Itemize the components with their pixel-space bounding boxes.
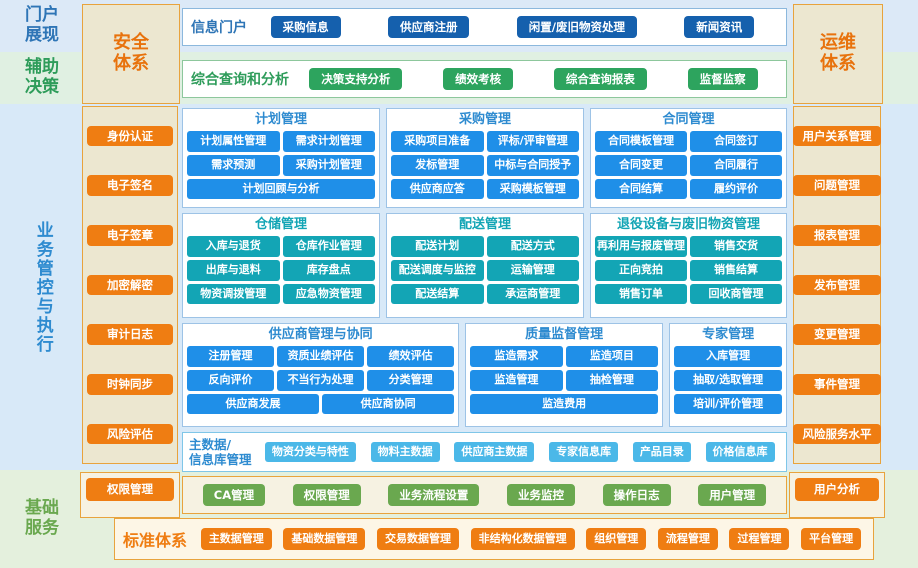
panel-仓储管理: 仓储管理入库与退货仓库作业管理出库与退料库存盘点物资调拨管理应急物资管理 — [182, 213, 380, 318]
panel-subrow-0: 监造需求监造项目 — [470, 346, 658, 367]
panel-row-0: 计划管理计划属性管理需求计划管理需求预测采购计划管理计划回顾与分析采购管理采购项… — [182, 108, 787, 208]
standards-label: 标准体系 — [123, 527, 187, 551]
ops-items-strip: 用户关系管理问题管理报表管理发布管理变更管理事件管理风险服务水平 — [793, 106, 881, 464]
panel-item-合同签订[interactable]: 合同签订 — [690, 131, 782, 152]
panel-subrow-0: 计划属性管理需求计划管理 — [187, 131, 375, 152]
panel-item-监造费用[interactable]: 监造费用 — [470, 394, 658, 415]
base-user-analysis-button[interactable]: 用户分析 — [795, 478, 879, 501]
portal-row-title: 信息门户 — [191, 17, 247, 37]
portal-button-0[interactable]: 采购信息 — [271, 16, 341, 39]
panel-item-计划属性管理[interactable]: 计划属性管理 — [187, 131, 280, 152]
panel-title-合同管理: 合同管理 — [595, 112, 782, 128]
ops-item-1[interactable]: 问题管理 — [793, 175, 881, 196]
layer-label-portal-line1: 门户 — [25, 6, 59, 26]
panel-item-应急物资管理[interactable]: 应急物资管理 — [283, 284, 376, 305]
panel-item-配送结算[interactable]: 配送结算 — [391, 284, 484, 305]
panel-body-配送管理: 配送计划配送方式配送调度与监控运输管理配送结算承运商管理 — [391, 236, 579, 313]
panel-item-中标与合同授予[interactable]: 中标与合同授予 — [487, 155, 580, 176]
panel-计划管理: 计划管理计划属性管理需求计划管理需求预测采购计划管理计划回顾与分析 — [182, 108, 380, 208]
decision-button-0[interactable]: 决策支持分析 — [309, 68, 402, 91]
panel-row-2: 供应商管理与协同注册管理资质业绩评估绩效评估反向评价不当行为处理分类管理供应商发… — [182, 323, 787, 427]
panel-item-入库与退货[interactable]: 入库与退货 — [187, 236, 280, 257]
panel-subrow-1: 抽取/选取管理 — [674, 370, 782, 391]
panel-title-计划管理: 计划管理 — [187, 112, 375, 128]
panel-item-监造管理[interactable]: 监造管理 — [470, 370, 563, 391]
security-label-line1: 安全 — [113, 33, 149, 54]
master-data-buttons: 物资分类与特性物料主数据供应商主数据专家信息库产品目录价格信息库 — [260, 442, 780, 462]
panel-item-回收商管理[interactable]: 回收商管理 — [690, 284, 782, 305]
layer-label-base-line2: 服务 — [25, 519, 59, 539]
security-item-1[interactable]: 电子签名 — [87, 175, 173, 196]
panel-item-不当行为处理[interactable]: 不当行为处理 — [277, 370, 364, 391]
standard-button-0[interactable]: 主数据管理 — [201, 528, 272, 550]
panel-item-供应商发展[interactable]: 供应商发展 — [187, 394, 319, 415]
panel-item-绩效评估[interactable]: 绩效评估 — [367, 346, 454, 367]
panel-item-采购计划管理[interactable]: 采购计划管理 — [283, 155, 376, 176]
panel-title-退役设备与废旧物资管理: 退役设备与废旧物资管理 — [595, 217, 782, 233]
panel-item-监造需求[interactable]: 监造需求 — [470, 346, 563, 367]
panel-subrow-0: 配送计划配送方式 — [391, 236, 579, 257]
panel-质量监督管理: 质量监督管理监造需求监造项目监造管理抽检管理监造费用 — [465, 323, 663, 427]
decision-row: 综合查询和分析 决策支持分析绩效考核综合查询报表监督监察 — [182, 60, 787, 98]
standards-buttons: 主数据管理基础数据管理交易数据管理非结构化数据管理组织管理流程管理过程管理平台管… — [197, 528, 865, 550]
layer-label-portal: 门户 展现 — [6, 2, 78, 50]
layer-label-decision-line1: 辅助 — [25, 58, 59, 78]
panel-item-履约评价[interactable]: 履约评价 — [690, 179, 782, 200]
panel-subrow-2: 供应商发展供应商协同 — [187, 394, 454, 415]
panel-subrow-1: 监造管理抽检管理 — [470, 370, 658, 391]
security-item-4[interactable]: 审计日志 — [87, 324, 173, 345]
panel-title-质量监督管理: 质量监督管理 — [470, 327, 658, 343]
security-item-3[interactable]: 加密解密 — [87, 275, 173, 296]
panel-item-计划回顾与分析[interactable]: 计划回顾与分析 — [187, 179, 375, 200]
panel-subrow-2: 配送结算承运商管理 — [391, 284, 579, 305]
panel-subrow-2: 培训/评价管理 — [674, 394, 782, 415]
layer-label-decision-line2: 决策 — [25, 78, 59, 98]
panel-title-专家管理: 专家管理 — [674, 327, 782, 343]
ops-label-line2: 体系 — [820, 54, 856, 75]
panel-body-供应商管理与协同: 注册管理资质业绩评估绩效评估反向评价不当行为处理分类管理供应商发展供应商协同 — [187, 346, 454, 422]
panel-item-销售交货[interactable]: 销售交货 — [690, 236, 782, 257]
panel-subrow-0: 入库管理 — [674, 346, 782, 367]
decision-button-2[interactable]: 综合查询报表 — [554, 68, 647, 91]
panel-专家管理: 专家管理入库管理抽取/选取管理培训/评价管理 — [669, 323, 787, 427]
master-data-row: 主数据/信息库管理物资分类与特性物料主数据供应商主数据专家信息库产品目录价格信息… — [182, 432, 787, 472]
panel-subrow-0: 注册管理资质业绩评估绩效评估 — [187, 346, 454, 367]
panel-供应商管理与协同: 供应商管理与协同注册管理资质业绩评估绩效评估反向评价不当行为处理分类管理供应商发… — [182, 323, 459, 427]
base-service-button-4[interactable]: 操作日志 — [603, 484, 671, 507]
panel-item-库存盘点[interactable]: 库存盘点 — [283, 260, 376, 281]
standard-button-1[interactable]: 基础数据管理 — [283, 528, 365, 550]
portal-row: 信息门户 采购信息供应商注册闲置/废旧物资处理新闻资讯 — [182, 8, 787, 46]
ops-item-2[interactable]: 报表管理 — [793, 225, 881, 246]
layer-label-portal-line2: 展现 — [25, 26, 59, 46]
master-data-label: 主数据/信息库管理 — [189, 437, 252, 467]
panel-item-注册管理[interactable]: 注册管理 — [187, 346, 274, 367]
decision-buttons: 决策支持分析绩效考核综合查询报表监督监察 — [289, 68, 778, 91]
panel-body-专家管理: 入库管理抽取/选取管理培训/评价管理 — [674, 346, 782, 422]
base-service-button-5[interactable]: 用户管理 — [698, 484, 766, 507]
standard-button-4[interactable]: 组织管理 — [586, 528, 646, 550]
panel-subrow-0: 入库与退货仓库作业管理 — [187, 236, 375, 257]
panel-退役设备与废旧物资管理: 退役设备与废旧物资管理再利用与报废管理销售交货正向竞拍销售结算销售订单回收商管理 — [590, 213, 787, 318]
panel-item-合同结算[interactable]: 合同结算 — [595, 179, 687, 200]
decision-button-1[interactable]: 绩效考核 — [443, 68, 513, 91]
portal-button-3[interactable]: 新闻资讯 — [684, 16, 754, 39]
panel-item-合同履行[interactable]: 合同履行 — [690, 155, 782, 176]
master-data-label-line2: 信息库管理 — [189, 452, 252, 467]
panel-body-计划管理: 计划属性管理需求计划管理需求预测采购计划管理计划回顾与分析 — [187, 131, 375, 203]
panel-subrow-1: 需求预测采购计划管理 — [187, 155, 375, 176]
master-data-item-4[interactable]: 产品目录 — [633, 442, 691, 462]
standard-button-5[interactable]: 流程管理 — [658, 528, 718, 550]
panel-subrow-2: 供应商应答采购模板管理 — [391, 179, 579, 200]
standard-button-7[interactable]: 平台管理 — [801, 528, 861, 550]
standards-row: 标准体系 主数据管理基础数据管理交易数据管理非结构化数据管理组织管理流程管理过程… — [114, 518, 874, 560]
base-service-button-2[interactable]: 业务流程设置 — [388, 484, 479, 507]
architecture-diagram: 门户 展现 辅助 决策 业务管控与执行 基础 服务 安全 体系 运维 体系 身份… — [0, 0, 918, 568]
panel-subrow-2: 合同结算履约评价 — [595, 179, 782, 200]
panel-subrow-2: 销售订单回收商管理 — [595, 284, 782, 305]
ops-system-header: 运维 体系 — [793, 4, 883, 104]
panel-subrow-1: 正向竞拍销售结算 — [595, 260, 782, 281]
master-data-item-1[interactable]: 物料主数据 — [371, 442, 440, 462]
panel-item-正向竞拍[interactable]: 正向竞拍 — [595, 260, 687, 281]
ops-item-5[interactable]: 事件管理 — [793, 374, 881, 395]
panel-item-合同模板管理[interactable]: 合同模板管理 — [595, 131, 687, 152]
panel-item-合同变更[interactable]: 合同变更 — [595, 155, 687, 176]
panel-item-分类管理[interactable]: 分类管理 — [367, 370, 454, 391]
panel-subrow-1: 发标管理中标与合同授予 — [391, 155, 579, 176]
standard-button-2[interactable]: 交易数据管理 — [377, 528, 459, 550]
panel-title-供应商管理与协同: 供应商管理与协同 — [187, 327, 454, 343]
panel-item-抽检管理[interactable]: 抽检管理 — [566, 370, 659, 391]
panel-subrow-0: 采购项目准备评标/评审管理 — [391, 131, 579, 152]
panel-item-采购项目准备[interactable]: 采购项目准备 — [391, 131, 484, 152]
security-item-5[interactable]: 时钟同步 — [87, 374, 173, 395]
panel-item-入库管理[interactable]: 入库管理 — [674, 346, 782, 367]
ops-item-0[interactable]: 用户关系管理 — [793, 126, 881, 147]
panel-item-监造项目[interactable]: 监造项目 — [566, 346, 659, 367]
panel-item-培训/评价管理[interactable]: 培训/评价管理 — [674, 394, 782, 415]
panel-item-抽取/选取管理[interactable]: 抽取/选取管理 — [674, 370, 782, 391]
panel-合同管理: 合同管理合同模板管理合同签订合同变更合同履行合同结算履约评价 — [590, 108, 787, 208]
layer-label-business: 业务管控与执行 — [6, 108, 78, 466]
panel-item-出库与退料[interactable]: 出库与退料 — [187, 260, 280, 281]
business-panels-area: 计划管理计划属性管理需求计划管理需求预测采购计划管理计划回顾与分析采购管理采购项… — [182, 108, 787, 464]
panel-item-资质业绩评估[interactable]: 资质业绩评估 — [277, 346, 364, 367]
layer-label-base: 基础 服务 — [6, 474, 78, 564]
layer-label-business-text: 业务管控与执行 — [32, 221, 52, 354]
panel-item-供应商协同[interactable]: 供应商协同 — [322, 394, 454, 415]
security-system-header: 安全 体系 — [82, 4, 180, 104]
portal-buttons: 采购信息供应商注册闲置/废旧物资处理新闻资讯 — [247, 16, 778, 39]
panel-配送管理: 配送管理配送计划配送方式配送调度与监控运输管理配送结算承运商管理 — [386, 213, 584, 318]
panel-item-承运商管理[interactable]: 承运商管理 — [487, 284, 580, 305]
master-data-item-3[interactable]: 专家信息库 — [549, 442, 618, 462]
ops-item-3[interactable]: 发布管理 — [793, 275, 881, 296]
panel-item-运输管理[interactable]: 运输管理 — [487, 260, 580, 281]
panel-item-采购模板管理[interactable]: 采购模板管理 — [487, 179, 580, 200]
panel-subrow-0: 再利用与报废管理销售交货 — [595, 236, 782, 257]
panel-item-销售结算[interactable]: 销售结算 — [690, 260, 782, 281]
panel-item-供应商应答[interactable]: 供应商应答 — [391, 179, 484, 200]
panel-body-合同管理: 合同模板管理合同签订合同变更合同履行合同结算履约评价 — [595, 131, 782, 203]
base-service-button-0[interactable]: CA管理 — [203, 484, 265, 507]
base-services-row: CA管理权限管理业务流程设置业务监控操作日志用户管理 — [182, 476, 787, 514]
ops-label-line1: 运维 — [820, 33, 856, 54]
panel-subrow-1: 配送调度与监控运输管理 — [391, 260, 579, 281]
master-data-item-5[interactable]: 价格信息库 — [706, 442, 775, 462]
security-item-2[interactable]: 电子签章 — [87, 225, 173, 246]
master-data-label-line1: 主数据/ — [189, 437, 252, 452]
panel-item-配送调度与监控[interactable]: 配送调度与监控 — [391, 260, 484, 281]
panel-item-需求计划管理[interactable]: 需求计划管理 — [283, 131, 376, 152]
base-service-button-3[interactable]: 业务监控 — [507, 484, 575, 507]
base-service-button-1[interactable]: 权限管理 — [293, 484, 361, 507]
panel-subrow-2: 监造费用 — [470, 394, 658, 415]
panel-body-退役设备与废旧物资管理: 再利用与报废管理销售交货正向竞拍销售结算销售订单回收商管理 — [595, 236, 782, 313]
portal-button-2[interactable]: 闲置/废旧物资处理 — [517, 16, 637, 39]
security-items-strip: 身份认证电子签名电子签章加密解密审计日志时钟同步风险评估 — [82, 106, 178, 464]
security-item-0[interactable]: 身份认证 — [87, 126, 173, 147]
master-data-item-0[interactable]: 物资分类与特性 — [265, 442, 356, 462]
panel-subrow-1: 出库与退料库存盘点 — [187, 260, 375, 281]
panel-subrow-2: 计划回顾与分析 — [187, 179, 375, 200]
standard-button-3[interactable]: 非结构化数据管理 — [471, 528, 575, 550]
master-data-item-2[interactable]: 供应商主数据 — [454, 442, 534, 462]
panel-subrow-0: 合同模板管理合同签订 — [595, 131, 782, 152]
panel-item-仓库作业管理[interactable]: 仓库作业管理 — [283, 236, 376, 257]
base-permission-button[interactable]: 权限管理 — [86, 478, 174, 501]
portal-button-1[interactable]: 供应商注册 — [388, 16, 470, 39]
layer-label-base-line1: 基础 — [25, 499, 59, 519]
panel-body-采购管理: 采购项目准备评标/评审管理发标管理中标与合同授予供应商应答采购模板管理 — [391, 131, 579, 203]
panel-subrow-1: 反向评价不当行为处理分类管理 — [187, 370, 454, 391]
panel-item-物资调拨管理[interactable]: 物资调拨管理 — [187, 284, 280, 305]
panel-body-仓储管理: 入库与退货仓库作业管理出库与退料库存盘点物资调拨管理应急物资管理 — [187, 236, 375, 313]
panel-item-发标管理[interactable]: 发标管理 — [391, 155, 484, 176]
panel-item-配送计划[interactable]: 配送计划 — [391, 236, 484, 257]
security-label-line2: 体系 — [113, 54, 149, 75]
panel-subrow-2: 物资调拨管理应急物资管理 — [187, 284, 375, 305]
decision-row-title: 综合查询和分析 — [191, 69, 289, 89]
panel-item-反向评价[interactable]: 反向评价 — [187, 370, 274, 391]
layer-label-decision: 辅助 决策 — [6, 54, 78, 102]
panel-body-质量监督管理: 监造需求监造项目监造管理抽检管理监造费用 — [470, 346, 658, 422]
panel-item-评标/评审管理[interactable]: 评标/评审管理 — [487, 131, 580, 152]
panel-title-仓储管理: 仓储管理 — [187, 217, 375, 233]
panel-subrow-1: 合同变更合同履行 — [595, 155, 782, 176]
panel-item-需求预测[interactable]: 需求预测 — [187, 155, 280, 176]
panel-title-采购管理: 采购管理 — [391, 112, 579, 128]
standard-button-6[interactable]: 过程管理 — [729, 528, 789, 550]
panel-item-再利用与报废管理[interactable]: 再利用与报废管理 — [595, 236, 687, 257]
panel-采购管理: 采购管理采购项目准备评标/评审管理发标管理中标与合同授予供应商应答采购模板管理 — [386, 108, 584, 208]
ops-item-6[interactable]: 风险服务水平 — [793, 424, 881, 445]
ops-item-4[interactable]: 变更管理 — [793, 324, 881, 345]
panel-title-配送管理: 配送管理 — [391, 217, 579, 233]
decision-button-3[interactable]: 监督监察 — [688, 68, 758, 91]
panel-item-配送方式[interactable]: 配送方式 — [487, 236, 580, 257]
security-item-6[interactable]: 风险评估 — [87, 424, 173, 445]
panel-row-1: 仓储管理入库与退货仓库作业管理出库与退料库存盘点物资调拨管理应急物资管理配送管理… — [182, 213, 787, 318]
panel-item-销售订单[interactable]: 销售订单 — [595, 284, 687, 305]
